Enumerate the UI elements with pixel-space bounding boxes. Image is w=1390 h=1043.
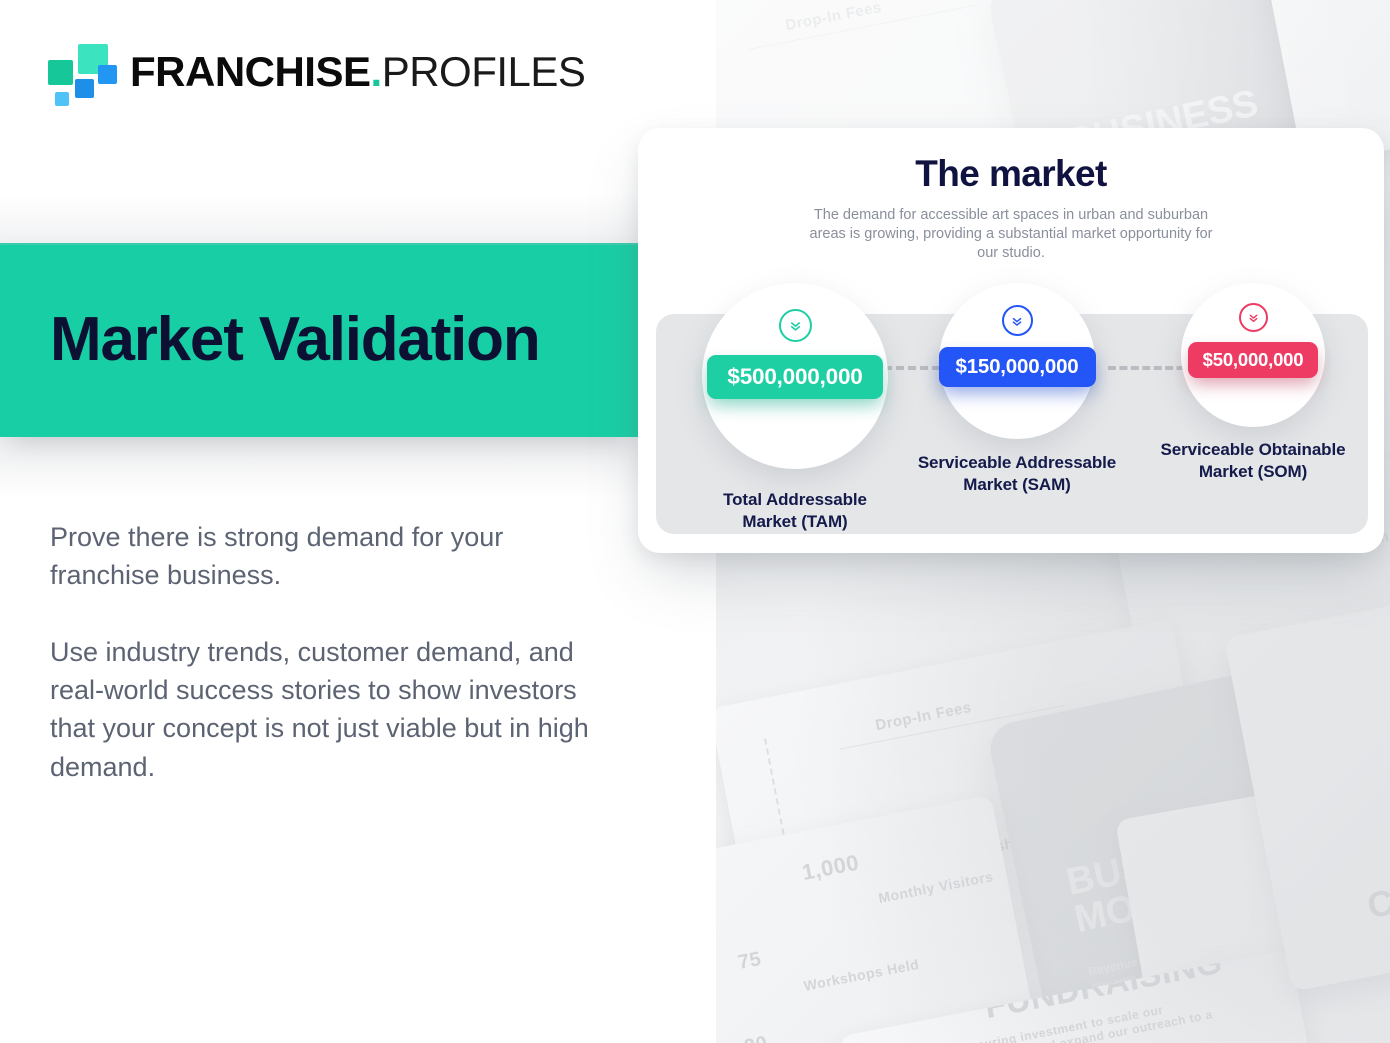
bg-fragment: Drop-In Fees [874,699,973,734]
bg-fragment: 75 [736,948,763,975]
brand-name-bold: FRANCHISE [130,48,371,95]
body-paragraph-2: Use industry trends, customer demand, an… [50,633,610,786]
market-value-tam: $500,000,000 [707,355,882,399]
market-label-sam: Serviceable Addressable Market (SAM) [917,452,1117,496]
brand-name-light: PROFILES [382,48,586,95]
double-chevron-down-icon [779,309,812,342]
slide-canvas: Drop-In Fees Session Workshops Commissio… [0,0,1390,1043]
market-node-som[interactable]: $50,000,000 Serviceable Obtainable Marke… [1150,283,1356,483]
brand-wordmark: FRANCHISE.PROFILES [130,51,585,93]
market-bubble-sam: $150,000,000 [939,283,1095,439]
double-chevron-down-icon [1002,305,1033,336]
market-card-subtitle: The demand for accessible art spaces in … [801,206,1221,263]
double-chevron-down-icon [1239,303,1268,332]
market-card: The market The demand for accessible art… [638,128,1384,553]
bg-fragment: 1,000 [800,850,861,887]
market-value-som: $50,000,000 [1188,342,1319,378]
brand-logo[interactable]: FRANCHISE.PROFILES [48,44,585,100]
logo-square-3 [75,79,94,98]
brand-name-dot: . [371,48,382,95]
page-title: Market Validation [0,307,540,372]
market-label-som: Serviceable Obtainable Market (SOM) [1153,439,1353,483]
squares-mosaic-icon [48,44,110,100]
logo-square-5 [55,92,69,106]
bg-fragment: Drop-In Fees [784,0,883,34]
hero-title-band: Market Validation [0,243,638,437]
bg-fragment: Workshops Held [802,956,920,994]
left-panel: FRANCHISE.PROFILES Market Validation Pro… [0,0,716,1043]
bg-fragment: 20 [742,1032,769,1043]
market-node-sam[interactable]: $150,000,000 Serviceable Addressable Mar… [914,283,1120,496]
logo-square-4 [98,65,117,84]
market-card-title: The market [638,128,1384,195]
bg-fragment: Monthly Visitors [877,868,995,906]
body-copy: Prove there is strong demand for your fr… [50,518,610,786]
body-paragraph-1: Prove there is strong demand for your fr… [50,518,610,595]
market-value-sam: $150,000,000 [939,347,1096,387]
market-node-tam[interactable]: $500,000,000 Total Addressable Market (T… [692,283,898,533]
logo-square-1 [48,60,73,85]
market-funnel: $500,000,000 Total Addressable Market (T… [656,283,1368,543]
market-bubble-tam: $500,000,000 [702,283,888,469]
market-label-tam: Total Addressable Market (TAM) [700,489,890,533]
market-bubble-som: $50,000,000 [1181,283,1325,427]
bg-fragment: COM [1364,870,1390,928]
